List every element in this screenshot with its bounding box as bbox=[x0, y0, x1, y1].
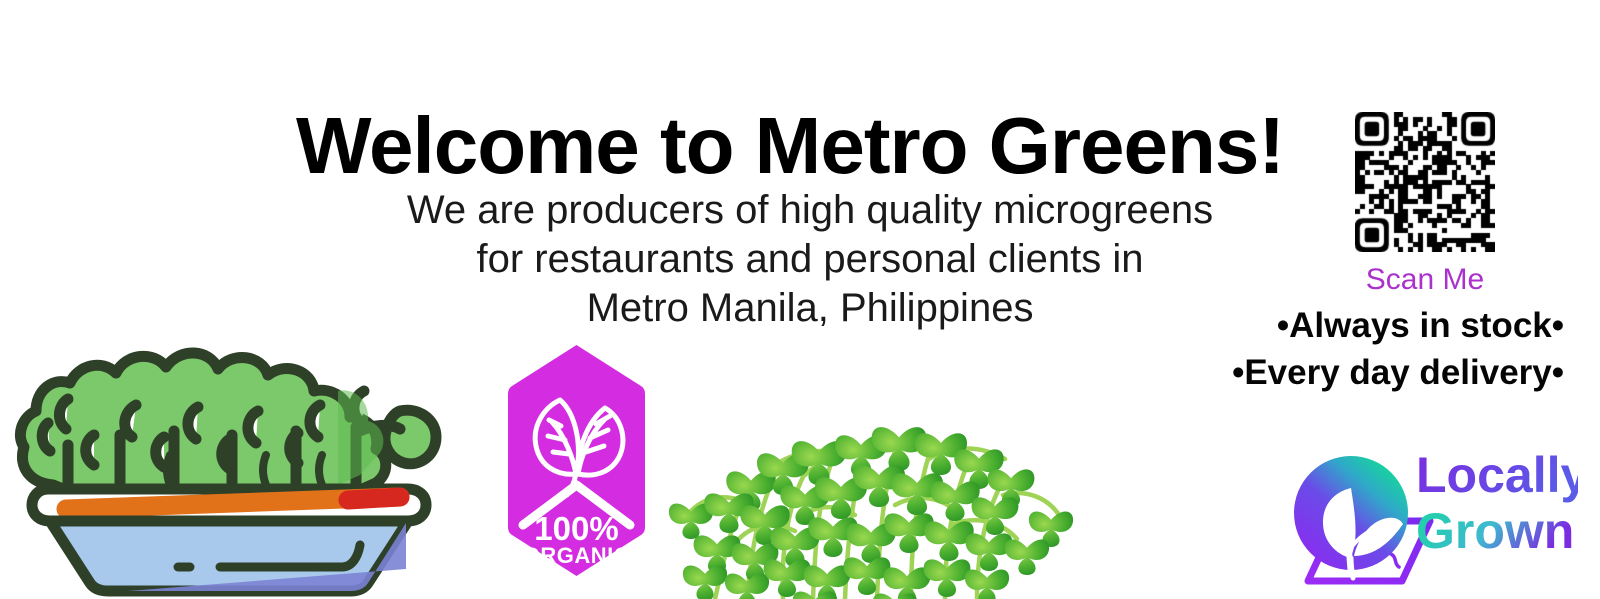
logo-text-grown: Grown bbox=[1416, 503, 1574, 559]
badge-label-text: ORGANIC bbox=[523, 543, 630, 568]
locally-grown-logo: Locally Grown bbox=[1238, 408, 1578, 599]
qr-code-canvas bbox=[1355, 112, 1495, 252]
logo-text-locally: Locally bbox=[1416, 447, 1578, 503]
subtitle-line-2: for restaurants and personal clients in bbox=[400, 235, 1220, 284]
qr-code-card[interactable] bbox=[1346, 103, 1504, 261]
microgreens-cluster-illustration bbox=[655, 355, 1075, 599]
organic-badge: 100% ORGANIC bbox=[505, 342, 648, 579]
subtitle-line-3: Metro Manila, Philippines bbox=[400, 284, 1220, 333]
page-title: Welcome to Metro Greens! bbox=[255, 100, 1325, 192]
qr-code-icon[interactable] bbox=[1355, 112, 1495, 252]
badge-percent-text: 100% bbox=[534, 510, 618, 547]
leaves bbox=[669, 427, 1073, 599]
microgreens-tray-illustration bbox=[8, 295, 473, 599]
scan-me-label: Scan Me bbox=[1346, 263, 1504, 297]
subtitle-line-1: We are producers of high quality microgr… bbox=[400, 186, 1220, 235]
promo-banner: Welcome to Metro Greens! We are producer… bbox=[0, 0, 1600, 599]
claim-always-in-stock: •Always in stock• bbox=[1277, 306, 1564, 346]
claim-every-day-delivery: •Every day delivery• bbox=[1232, 353, 1564, 393]
